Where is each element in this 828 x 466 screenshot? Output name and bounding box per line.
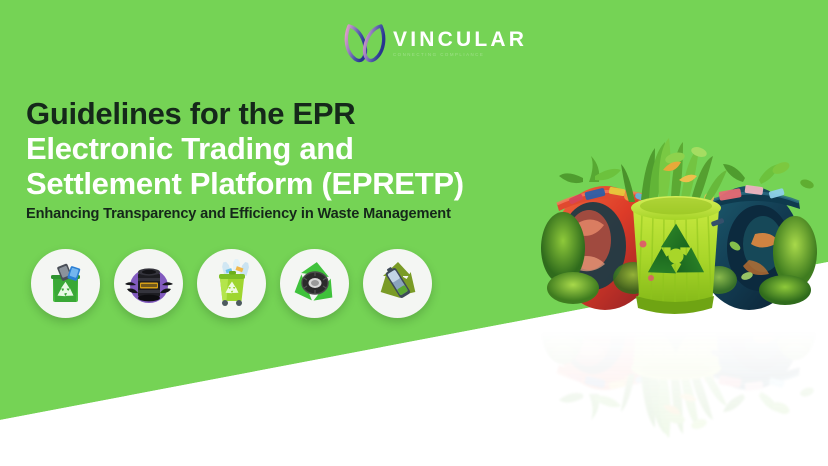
epr-guidelines-banner: VINCULAR CONNECTING COMPLIANCE Guideline…	[0, 0, 828, 466]
badge-battery-recycling[interactable]	[363, 249, 432, 318]
waste-category-badge-row	[31, 249, 432, 318]
tyre-recycling-icon	[288, 259, 342, 309]
logo-text-block: VINCULAR CONNECTING COMPLIANCE	[393, 29, 527, 57]
badge-tyre-recycling[interactable]	[280, 249, 349, 318]
recycling-bins-illustration	[523, 128, 828, 338]
used-oil-drum-icon	[121, 258, 177, 310]
vincular-butterfly-mark	[343, 22, 387, 64]
headline-line-1: Guidelines for the EPR	[26, 96, 546, 131]
logo-tagline: CONNECTING COMPLIANCE	[393, 53, 527, 57]
brand-logo[interactable]: VINCULAR CONNECTING COMPLIANCE	[343, 22, 527, 64]
badge-used-oil-drum[interactable]	[114, 249, 183, 318]
headline-subtitle: Enhancing Transparency and Efficiency in…	[26, 206, 546, 222]
battery-recycling-icon	[371, 258, 425, 310]
headline-line-2: Electronic Trading and	[26, 131, 546, 166]
logo-wordmark: VINCULAR	[393, 29, 527, 50]
badge-plastic-waste-bin[interactable]	[197, 249, 266, 318]
badge-e-waste-recycling-bin[interactable]	[31, 249, 100, 318]
headline-block: Guidelines for the EPR Electronic Tradin…	[26, 96, 546, 222]
headline-line-3: Settlement Platform (EPRETP)	[26, 166, 546, 201]
plastic-waste-bin-icon	[206, 258, 258, 310]
e-waste-recycling-bin-icon	[40, 258, 92, 310]
